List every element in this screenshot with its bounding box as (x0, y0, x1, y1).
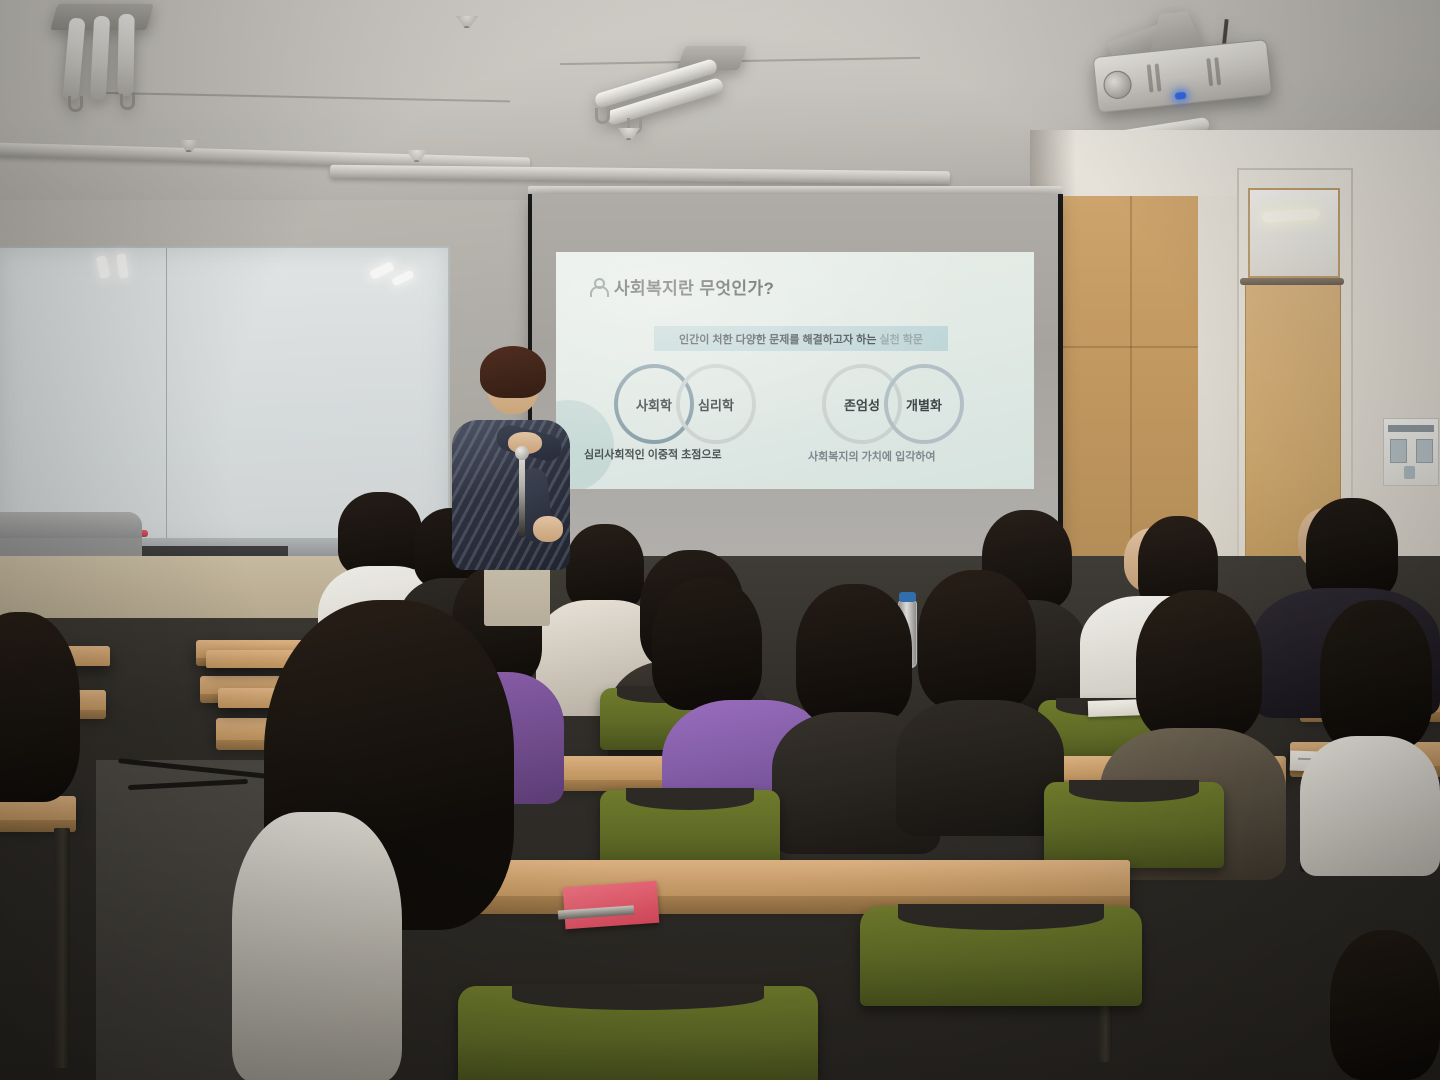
slide-title-row: 사회복지란 무엇인가? (590, 274, 774, 299)
chair[interactable] (458, 986, 818, 1080)
venn-label: 사회학 (636, 395, 672, 414)
person-bust-icon (590, 278, 605, 295)
slide-banner-text: 인간이 처한 다양한 문제를 해결하고자 하는 실천 학문 (679, 331, 923, 347)
panel-switch[interactable] (1416, 439, 1433, 463)
panel-indicator (1404, 466, 1415, 479)
desk-leg (54, 828, 70, 1068)
handheld-microphone[interactable] (519, 452, 525, 538)
venn-label: 개별화 (906, 395, 942, 414)
venn-circle: 개별화 (884, 364, 964, 444)
microphone-head (515, 446, 529, 460)
projected-slide: 사회복지란 무엇인가? 인간이 처한 다양한 문제를 해결하고자 하는 실천 학… (556, 252, 1034, 489)
whiteboard-seam (166, 248, 167, 544)
bottle-cap (899, 592, 916, 602)
instructor-hair (480, 346, 546, 398)
pink-booklet[interactable] (563, 881, 660, 929)
instructor-hand (533, 516, 563, 542)
venn-caption: 심리사회적인 이중적 초점으로 (584, 446, 722, 462)
panel-switch[interactable] (1390, 439, 1407, 463)
venn-label: 존엄성 (844, 395, 880, 414)
ceiling-light-fixture (48, 4, 168, 106)
lecture-room-photo: 사회복지란 무엇인가? 인간이 처한 다양한 문제를 해결하고자 하는 실천 학… (0, 0, 1440, 1080)
venn-label: 심리학 (698, 395, 734, 414)
venn-group-right: 존엄성 개별화 (822, 364, 964, 444)
slide-title: 사회복지란 무엇인가? (614, 274, 774, 299)
venn-circle: 심리학 (676, 364, 756, 444)
wall-control-panel[interactable] (1383, 418, 1439, 486)
panel-header-strip (1388, 425, 1434, 432)
banner-dim-text: 실천 학문 (879, 334, 923, 346)
door-push-bar[interactable] (1240, 278, 1344, 285)
banner-main-text: 인간이 처한 다양한 문제를 해결하고자 하는 (679, 334, 880, 346)
venn-group-left: 사회학 심리학 (614, 364, 756, 444)
chair[interactable] (1044, 782, 1224, 868)
projector-power-led (1175, 92, 1187, 100)
door-transom-window (1248, 188, 1340, 278)
slide-banner: 인간이 처한 다양한 문제를 해결하고자 하는 실천 학문 (654, 326, 948, 351)
venn-caption: 사회복지의 가치에 입각하여 (808, 448, 936, 464)
chair[interactable] (860, 906, 1142, 1006)
lectern-top (0, 512, 142, 538)
ceiling-light-fixture (585, 52, 735, 130)
